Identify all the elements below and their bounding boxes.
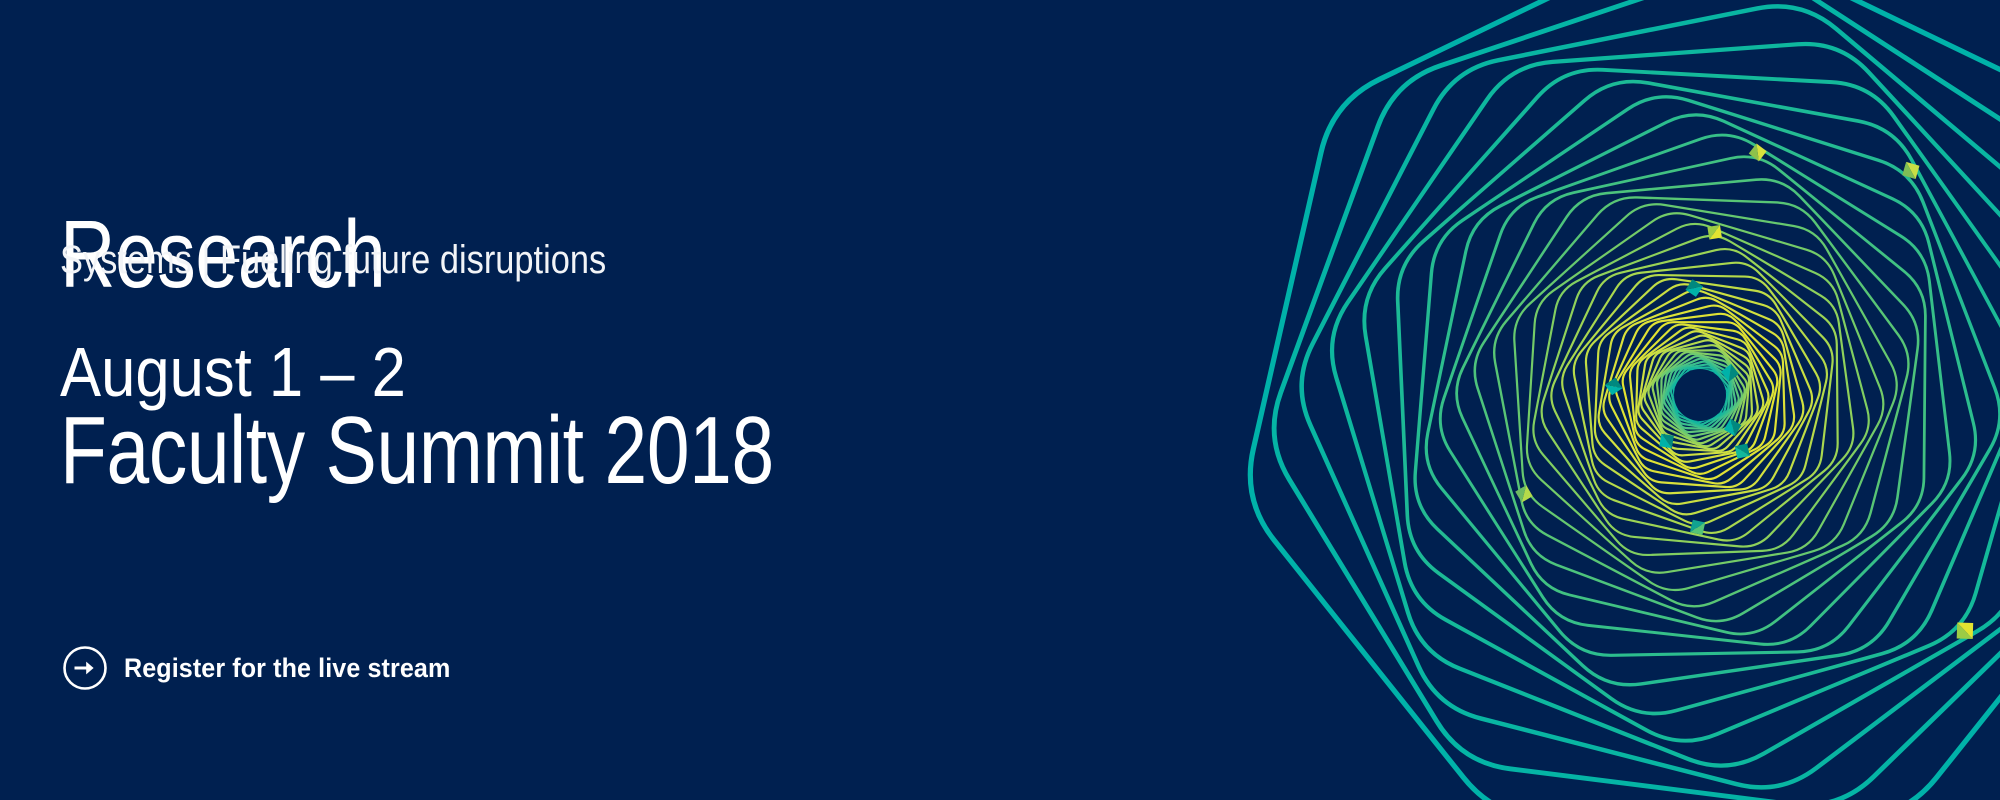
event-banner: Research Faculty Summit 2018 Systems | F…	[0, 0, 2000, 800]
arrow-right-circle-icon	[62, 645, 108, 691]
spiral-diamond-marker	[1748, 142, 1768, 162]
subtitle: Systems | Fueling future disruptions	[60, 238, 606, 283]
spiral-center-hole	[1674, 369, 1726, 421]
banner-text-block: Research Faculty Summit 2018 Systems | F…	[60, 0, 1110, 800]
spiral-svg	[1000, 0, 2000, 800]
spiral-rings	[1250, 0, 2000, 800]
spiral-diamond-marker	[1513, 483, 1535, 505]
spiral-ring	[1250, 0, 2000, 800]
register-live-stream-label: Register for the live stream	[124, 653, 450, 684]
title-line-2: Faculty Summit 2018	[60, 402, 774, 500]
event-dates: August 1 – 2	[60, 332, 406, 412]
spiral-vortex-graphic	[1000, 0, 2000, 800]
register-live-stream-link[interactable]: Register for the live stream	[62, 645, 475, 691]
